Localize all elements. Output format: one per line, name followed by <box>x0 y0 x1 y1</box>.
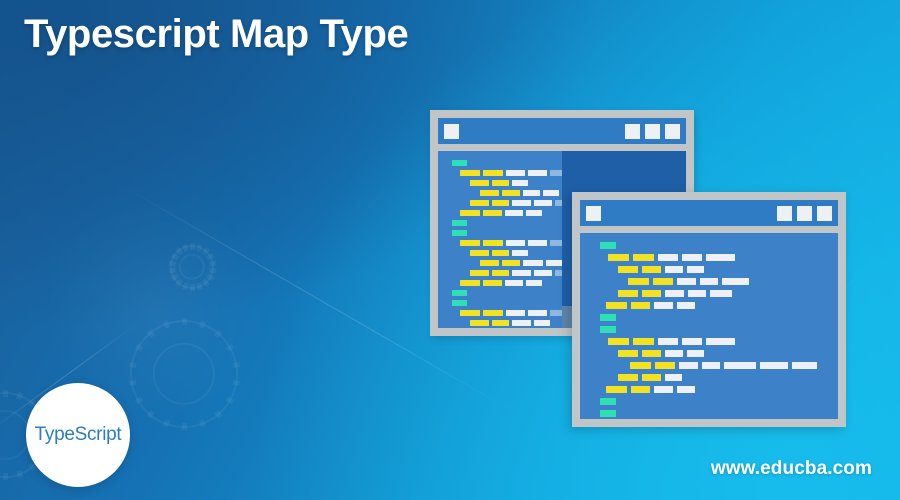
code-token <box>642 266 661 273</box>
code-token <box>618 374 638 381</box>
code-window-front <box>572 192 846 427</box>
code-token <box>706 254 735 261</box>
code-token <box>492 180 509 186</box>
code-token <box>702 362 720 369</box>
code-line <box>600 398 838 405</box>
window-controls <box>625 124 680 139</box>
code-token <box>512 270 531 276</box>
code-token <box>460 240 480 246</box>
site-url: www.educba.com <box>711 458 872 480</box>
code-token <box>687 350 704 357</box>
gear-icon-large <box>130 320 238 428</box>
code-line <box>608 254 838 261</box>
code-token <box>760 362 788 369</box>
code-line <box>618 266 838 273</box>
code-token <box>483 240 503 246</box>
code-token <box>606 386 627 393</box>
code-token <box>483 170 503 176</box>
code-token <box>700 278 718 285</box>
gear-teeth <box>172 247 212 287</box>
code-area <box>580 233 838 419</box>
code-token <box>631 302 650 309</box>
minimize-icon[interactable] <box>777 206 792 221</box>
code-token <box>642 374 661 381</box>
code-token <box>483 310 503 316</box>
code-line <box>628 278 838 285</box>
code-token <box>682 338 702 345</box>
code-line <box>630 362 838 369</box>
code-token <box>618 266 638 273</box>
code-token <box>534 200 552 206</box>
code-token <box>470 180 489 186</box>
code-token <box>505 210 523 216</box>
code-token <box>687 266 704 273</box>
code-token <box>792 362 817 369</box>
code-token <box>506 240 525 246</box>
code-token <box>452 160 467 166</box>
code-token <box>654 386 673 393</box>
code-token <box>679 362 698 369</box>
code-token <box>534 270 552 276</box>
code-token <box>452 300 467 306</box>
code-token <box>710 290 732 297</box>
code-token <box>677 386 695 393</box>
code-token <box>470 250 489 256</box>
code-token <box>483 210 502 216</box>
code-token <box>492 270 509 276</box>
code-line <box>600 326 838 333</box>
window-controls <box>777 206 832 221</box>
code-line <box>608 338 838 345</box>
code-token <box>512 250 528 256</box>
code-token <box>470 270 489 276</box>
code-token <box>658 254 678 261</box>
code-token <box>642 290 661 297</box>
code-token <box>492 250 509 256</box>
code-token <box>526 280 542 286</box>
code-token <box>512 180 528 186</box>
typescript-badge-label: TypeScript <box>35 424 122 446</box>
gear-icon-small <box>170 245 214 289</box>
window-menu-icon[interactable] <box>586 206 601 221</box>
code-line <box>618 374 838 381</box>
code-token <box>546 260 562 266</box>
code-token <box>630 362 651 369</box>
code-token <box>502 260 520 266</box>
minimize-icon[interactable] <box>625 124 640 139</box>
code-token <box>633 254 654 261</box>
code-token <box>460 170 480 176</box>
code-token <box>470 320 489 326</box>
code-token <box>534 320 550 326</box>
code-token <box>452 230 467 236</box>
code-token <box>506 310 525 316</box>
code-token <box>506 170 525 176</box>
code-token <box>682 254 702 261</box>
code-token <box>665 350 683 357</box>
code-token <box>600 410 616 417</box>
window-menu-icon[interactable] <box>444 124 459 139</box>
code-token <box>528 240 547 246</box>
code-token <box>470 200 489 206</box>
code-token <box>633 338 654 345</box>
window-titlebar <box>438 118 686 144</box>
code-token <box>606 302 627 309</box>
code-token <box>628 278 649 285</box>
code-token <box>600 314 616 321</box>
code-token <box>452 220 467 226</box>
code-token <box>655 362 675 369</box>
code-token <box>631 386 650 393</box>
code-line <box>618 350 838 357</box>
code-token <box>677 302 695 309</box>
code-token <box>505 280 523 286</box>
banner-background: Typescript Map Type TypeScript <box>0 0 900 500</box>
code-token <box>460 210 480 216</box>
code-line <box>600 410 838 417</box>
page-title: Typescript Map Type <box>24 12 408 57</box>
code-token <box>492 200 509 206</box>
code-token <box>724 362 756 369</box>
maximize-icon[interactable] <box>645 124 660 139</box>
code-token <box>492 320 509 326</box>
code-token <box>706 338 735 345</box>
code-token <box>654 302 673 309</box>
code-token <box>452 290 467 296</box>
code-token <box>480 190 499 196</box>
code-token <box>600 242 616 249</box>
close-icon[interactable] <box>665 124 680 139</box>
code-token <box>653 278 673 285</box>
window-titlebar <box>580 200 838 226</box>
code-line <box>600 242 838 249</box>
code-token <box>642 350 661 357</box>
code-line <box>600 314 838 321</box>
code-token <box>618 290 638 297</box>
code-token <box>600 398 616 405</box>
code-token <box>483 280 502 286</box>
code-token <box>658 338 678 345</box>
code-token <box>480 260 499 266</box>
code-token <box>528 170 547 176</box>
code-token <box>665 374 682 381</box>
typescript-badge: TypeScript <box>26 383 130 487</box>
code-token <box>618 350 638 357</box>
gear-teeth <box>132 322 236 426</box>
code-token <box>460 310 480 316</box>
code-token <box>523 190 540 196</box>
code-token <box>665 290 684 297</box>
maximize-icon[interactable] <box>797 206 812 221</box>
code-token <box>677 278 696 285</box>
close-icon[interactable] <box>817 206 832 221</box>
code-token <box>523 260 543 266</box>
code-token <box>512 320 531 326</box>
code-token <box>688 290 706 297</box>
code-line <box>606 386 838 393</box>
code-token <box>665 266 683 273</box>
code-token <box>608 254 629 261</box>
code-line <box>606 302 838 309</box>
code-line-list <box>580 242 838 419</box>
code-token <box>600 326 616 333</box>
code-token <box>526 210 542 216</box>
code-line <box>618 290 838 297</box>
code-token <box>460 280 480 286</box>
code-token <box>528 310 547 316</box>
code-token <box>543 190 559 196</box>
code-token <box>608 338 629 345</box>
code-token <box>512 200 531 206</box>
code-token <box>722 278 749 285</box>
code-token <box>502 190 520 196</box>
